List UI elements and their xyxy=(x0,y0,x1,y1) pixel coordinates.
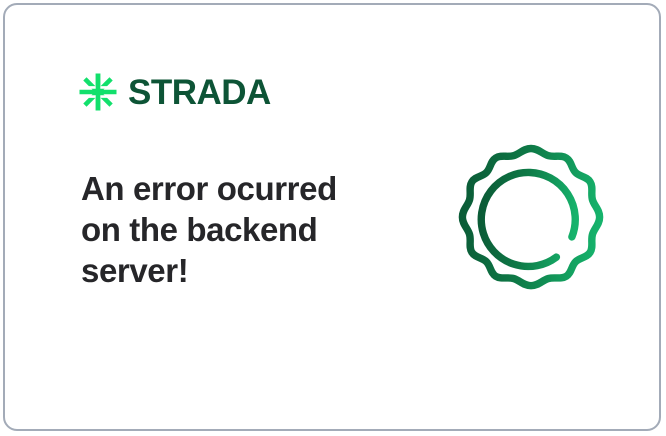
strada-asterisk-icon xyxy=(77,71,119,113)
error-message: An error ocurred on the backend server! xyxy=(81,168,381,291)
brand-logo: STRADA xyxy=(77,71,271,113)
brand-name: STRADA xyxy=(128,75,271,110)
error-card: STRADA An error ocurred on the backend s… xyxy=(3,3,661,431)
gear-cog-icon xyxy=(446,139,616,309)
